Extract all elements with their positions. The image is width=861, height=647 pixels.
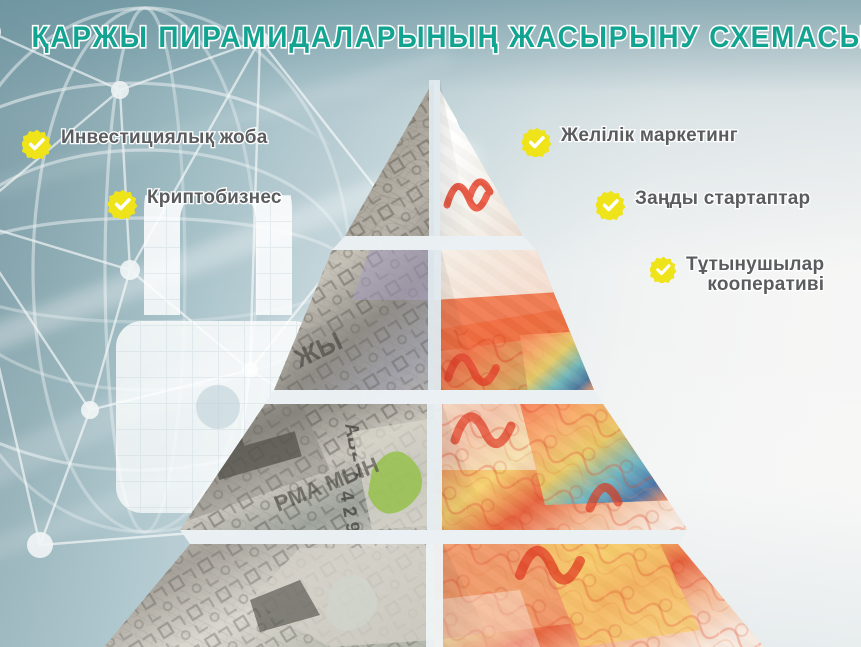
check-badge-icon (522, 127, 552, 157)
callout-crypto-business[interactable]: Криптобизнес (108, 188, 282, 219)
check-badge-icon (596, 190, 626, 220)
check-badge-icon (650, 256, 677, 283)
callout-consumer-cooperative[interactable]: Тұтынушылар кооперативі (650, 255, 824, 295)
callout-label: Желілік маркетинг (561, 126, 738, 146)
callout-label: Криптобизнес (147, 188, 282, 208)
callout-investment-project[interactable]: Инвестициялық жоба (22, 128, 267, 159)
callout-label: Заңды стартаптар (635, 189, 810, 209)
poster-title: ҚАРЖЫ ПИРАМИДАЛАРЫНЫҢ ЖАСЫРЫНУ СХЕМАСЫ (0, 22, 861, 54)
poster-title-text: ҚАРЖЫ ПИРАМИДАЛАРЫНЫҢ ЖАСЫРЫНУ СХЕМАСЫ (32, 22, 861, 54)
callout-label: Инвестициялық жоба (61, 128, 267, 148)
infographic-poster: ЖЫ AB (0, 0, 861, 647)
check-badge-icon (108, 189, 138, 219)
background-vertical-shade (0, 0, 861, 647)
callout-legal-startups[interactable]: Заңды стартаптар (596, 189, 810, 220)
callout-network-marketing[interactable]: Желілік маркетинг (522, 126, 738, 157)
check-badge-icon (22, 129, 52, 159)
callout-label: Тұтынушылар кооперативі (686, 255, 824, 295)
